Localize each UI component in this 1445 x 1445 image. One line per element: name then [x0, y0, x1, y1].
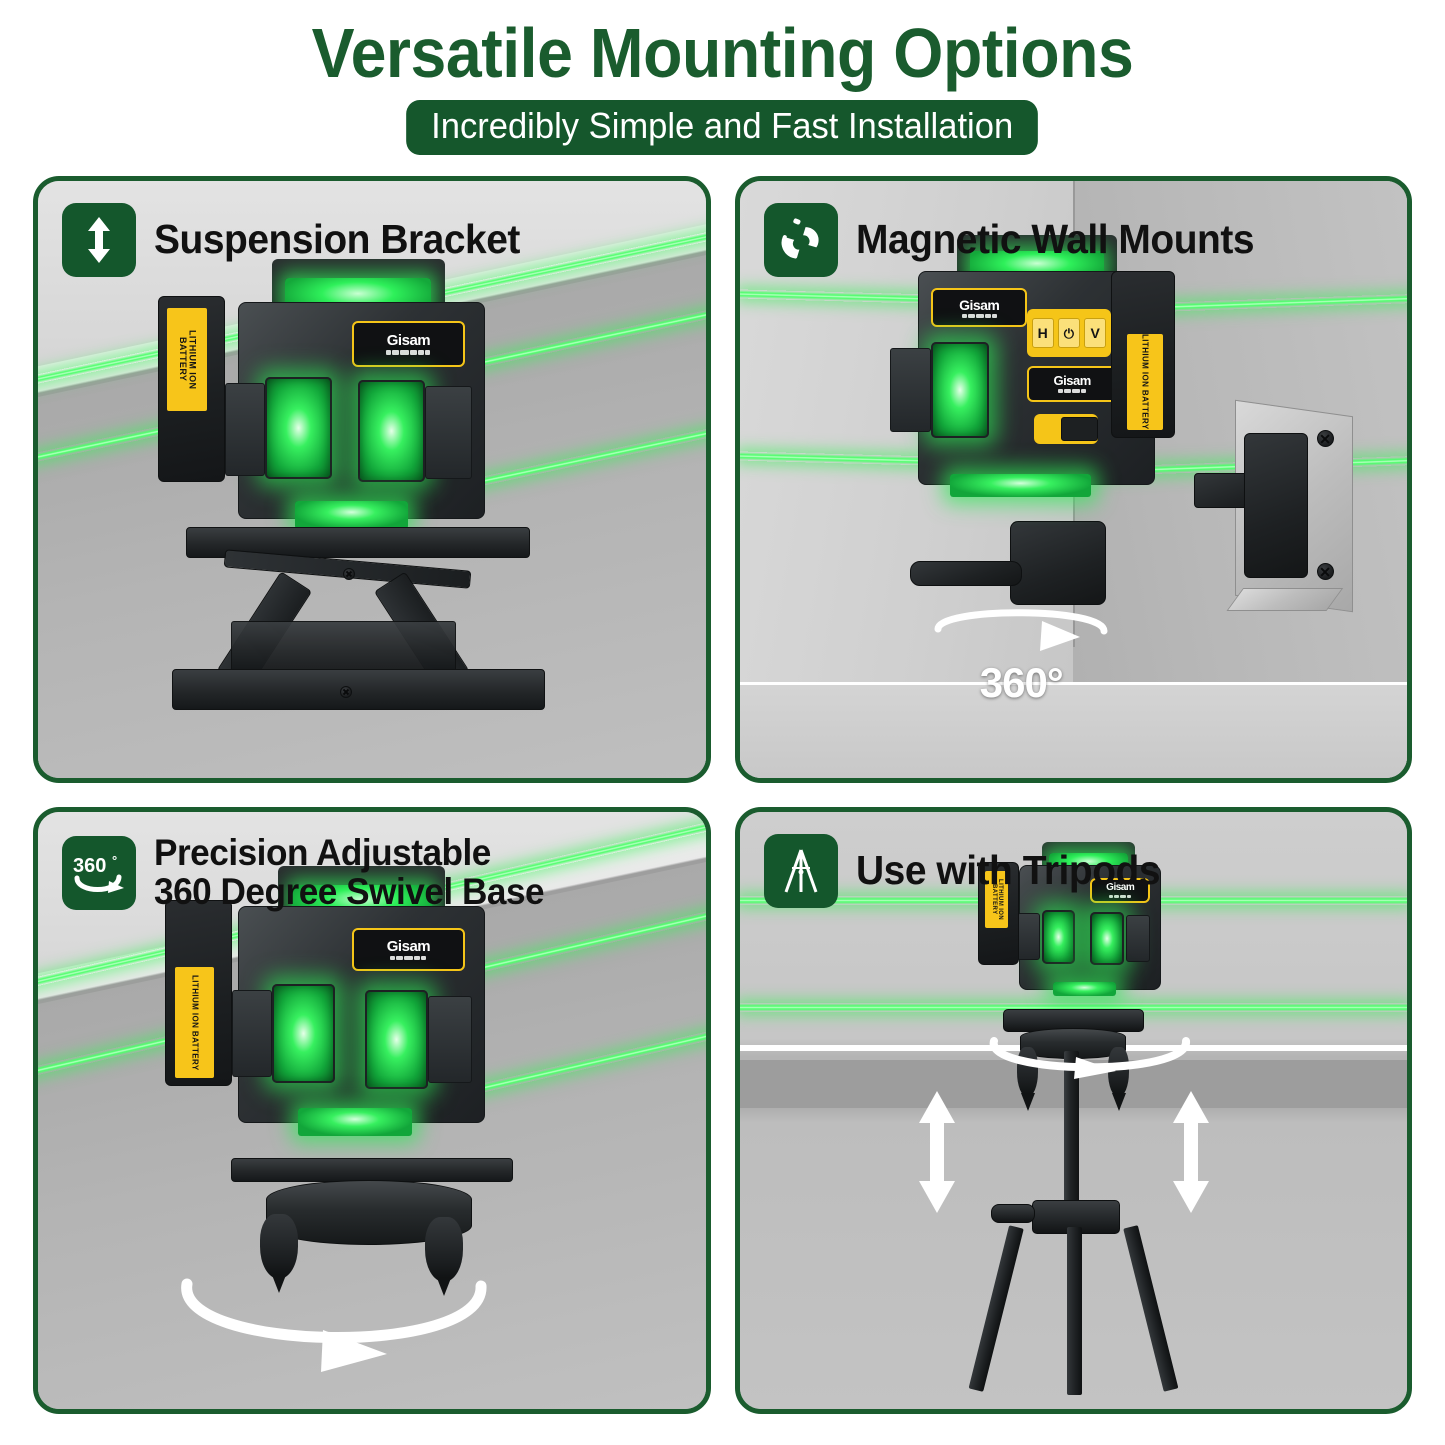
tripod [926, 1009, 1220, 1391]
scissor-lift-bracket [172, 527, 546, 730]
certification-marks [386, 350, 430, 355]
battery-label: LITHIUM ION BATTERY [175, 967, 214, 1078]
subtitle-wrap: Incredibly Simple and Fast Installation [0, 100, 1445, 155]
lift-middle-plate [231, 621, 455, 674]
lift-screw [340, 686, 352, 698]
certification-marks [390, 956, 426, 960]
brand-label-upper: Gisam [931, 288, 1027, 327]
base-top-bar [231, 1158, 513, 1181]
certification-marks [962, 314, 997, 318]
brand-name: Gisam [959, 298, 999, 312]
tripod-leg [1067, 1227, 1082, 1395]
rotation-degree-label: 360° [980, 659, 1063, 707]
lift-base-plate [172, 669, 546, 710]
clamp-body [1010, 521, 1105, 605]
battery-label: LITHIUM ION BATTERY [167, 308, 207, 411]
base-spike-left [260, 1214, 298, 1279]
panel-label-row: Suspension Bracket [62, 203, 539, 277]
panel-title: Precision Adjustable 360 Degree Swivel B… [154, 834, 544, 912]
header: Versatile Mounting Options Incredibly Si… [0, 0, 1445, 155]
device-vent-right [428, 996, 471, 1083]
360-rotation-icon: 360 ° [70, 847, 128, 899]
panel-label-row: Use with Tripods [764, 834, 1176, 908]
button-horizontal-mode[interactable]: H [1032, 318, 1054, 348]
laser-window-front-right [358, 380, 425, 482]
laser-window-front-left [265, 377, 332, 479]
brand-name: Gisam [1054, 374, 1091, 387]
swivel-clamp [926, 521, 1206, 605]
up-down-arrow-icon [82, 215, 116, 265]
laser-window-front-left [1042, 910, 1076, 964]
device-vent-left [225, 383, 265, 476]
brand-name: Gisam [387, 333, 430, 348]
magnet-icon [780, 218, 822, 262]
bottom-laser-window [950, 474, 1091, 498]
battery-pack: LITHIUM ION BATTERY [165, 900, 232, 1086]
brand-label-lower: Gisam [1027, 366, 1117, 402]
button-power[interactable]: ⏻ [1058, 318, 1080, 348]
device-vent-right [425, 386, 472, 479]
laser-window-front [931, 342, 989, 438]
battery-pack: LITHIUM ION BATTERY [158, 296, 225, 482]
panel-label-row: 360 ° Precision Adjustable 360 Degree Sw… [62, 834, 565, 912]
certification-marks [1058, 389, 1086, 393]
brand-name: Gisam [387, 939, 430, 954]
bracket-base-shelf [1227, 588, 1343, 611]
bottom-laser-window [295, 501, 408, 529]
brand-label: Gisam [352, 321, 465, 368]
badge-suspension [62, 203, 136, 277]
battery-pack: LITHIUM ION BATTERY [1111, 271, 1175, 438]
panel-precision-swivel-base[interactable]: Gisam LITHIU [33, 807, 711, 1414]
laser-window-front-right [1090, 912, 1124, 966]
button-vertical-mode[interactable]: V [1084, 318, 1106, 348]
lock-knob[interactable] [1061, 417, 1098, 441]
tripod-center-column [1064, 1051, 1079, 1211]
laser-level-device: Gisam H ⏻ V [886, 235, 1206, 534]
panel-label-row: Magnetic Wall Mounts [764, 203, 1275, 277]
floor-surface [740, 682, 1408, 778]
control-button-pad[interactable]: H ⏻ V [1027, 309, 1110, 357]
laser-window-front-right [365, 990, 428, 1089]
svg-text:°: ° [112, 853, 117, 868]
device-vent-left [890, 348, 932, 432]
base-spike-right [425, 1217, 463, 1282]
bottom-laser-window [298, 1108, 411, 1136]
subtitle-pill: Incredibly Simple and Fast Installation [407, 100, 1039, 155]
swivel-base [225, 1158, 519, 1313]
bracket-body [1244, 433, 1308, 578]
panel-title: Use with Tripods [856, 849, 1160, 892]
lock-slider-switch[interactable] [1034, 414, 1098, 444]
device-vent-left [232, 990, 272, 1077]
tripod-icon [778, 846, 824, 896]
laser-level-device: Gisam LITHIU [185, 259, 519, 569]
panel-suspension-bracket[interactable]: Gisam LITHIU [33, 176, 711, 783]
feature-grid: Gisam LITHIU [33, 176, 1412, 1414]
panel-use-with-tripods[interactable]: Gisam LITHIUM ION BATTERY [735, 807, 1413, 1414]
badge-360-swivel: 360 ° [62, 836, 136, 910]
tripod-leg [968, 1225, 1023, 1392]
badge-tripod [764, 834, 838, 908]
tripod-spike-right [1108, 1047, 1129, 1097]
panel-title: Magnetic Wall Mounts [856, 218, 1254, 261]
device-vent-right [1126, 915, 1150, 962]
page-title: Versatile Mounting Options [58, 18, 1387, 88]
laser-level-device: Gisam LITHIU [185, 866, 519, 1176]
infographic-page: Versatile Mounting Options Incredibly Si… [0, 0, 1445, 1445]
laser-window-front-left [272, 984, 335, 1083]
mount-screw [1317, 563, 1334, 580]
tripod-spike-left [1017, 1047, 1038, 1097]
tripod-leg [1123, 1225, 1178, 1392]
battery-label: LITHIUM ION BATTERY [1127, 334, 1163, 430]
tripod-lock-knob [991, 1204, 1035, 1223]
bottom-laser-window [1053, 982, 1117, 996]
svg-text:360: 360 [73, 855, 106, 877]
clamp-handle [910, 561, 1022, 586]
panel-magnetic-wall-mounts[interactable]: Gisam H ⏻ V [735, 176, 1413, 783]
panel-title: Suspension Bracket [154, 218, 520, 261]
badge-magnetic [764, 203, 838, 277]
brand-label: Gisam [352, 928, 465, 971]
device-vent-left [1017, 913, 1039, 960]
